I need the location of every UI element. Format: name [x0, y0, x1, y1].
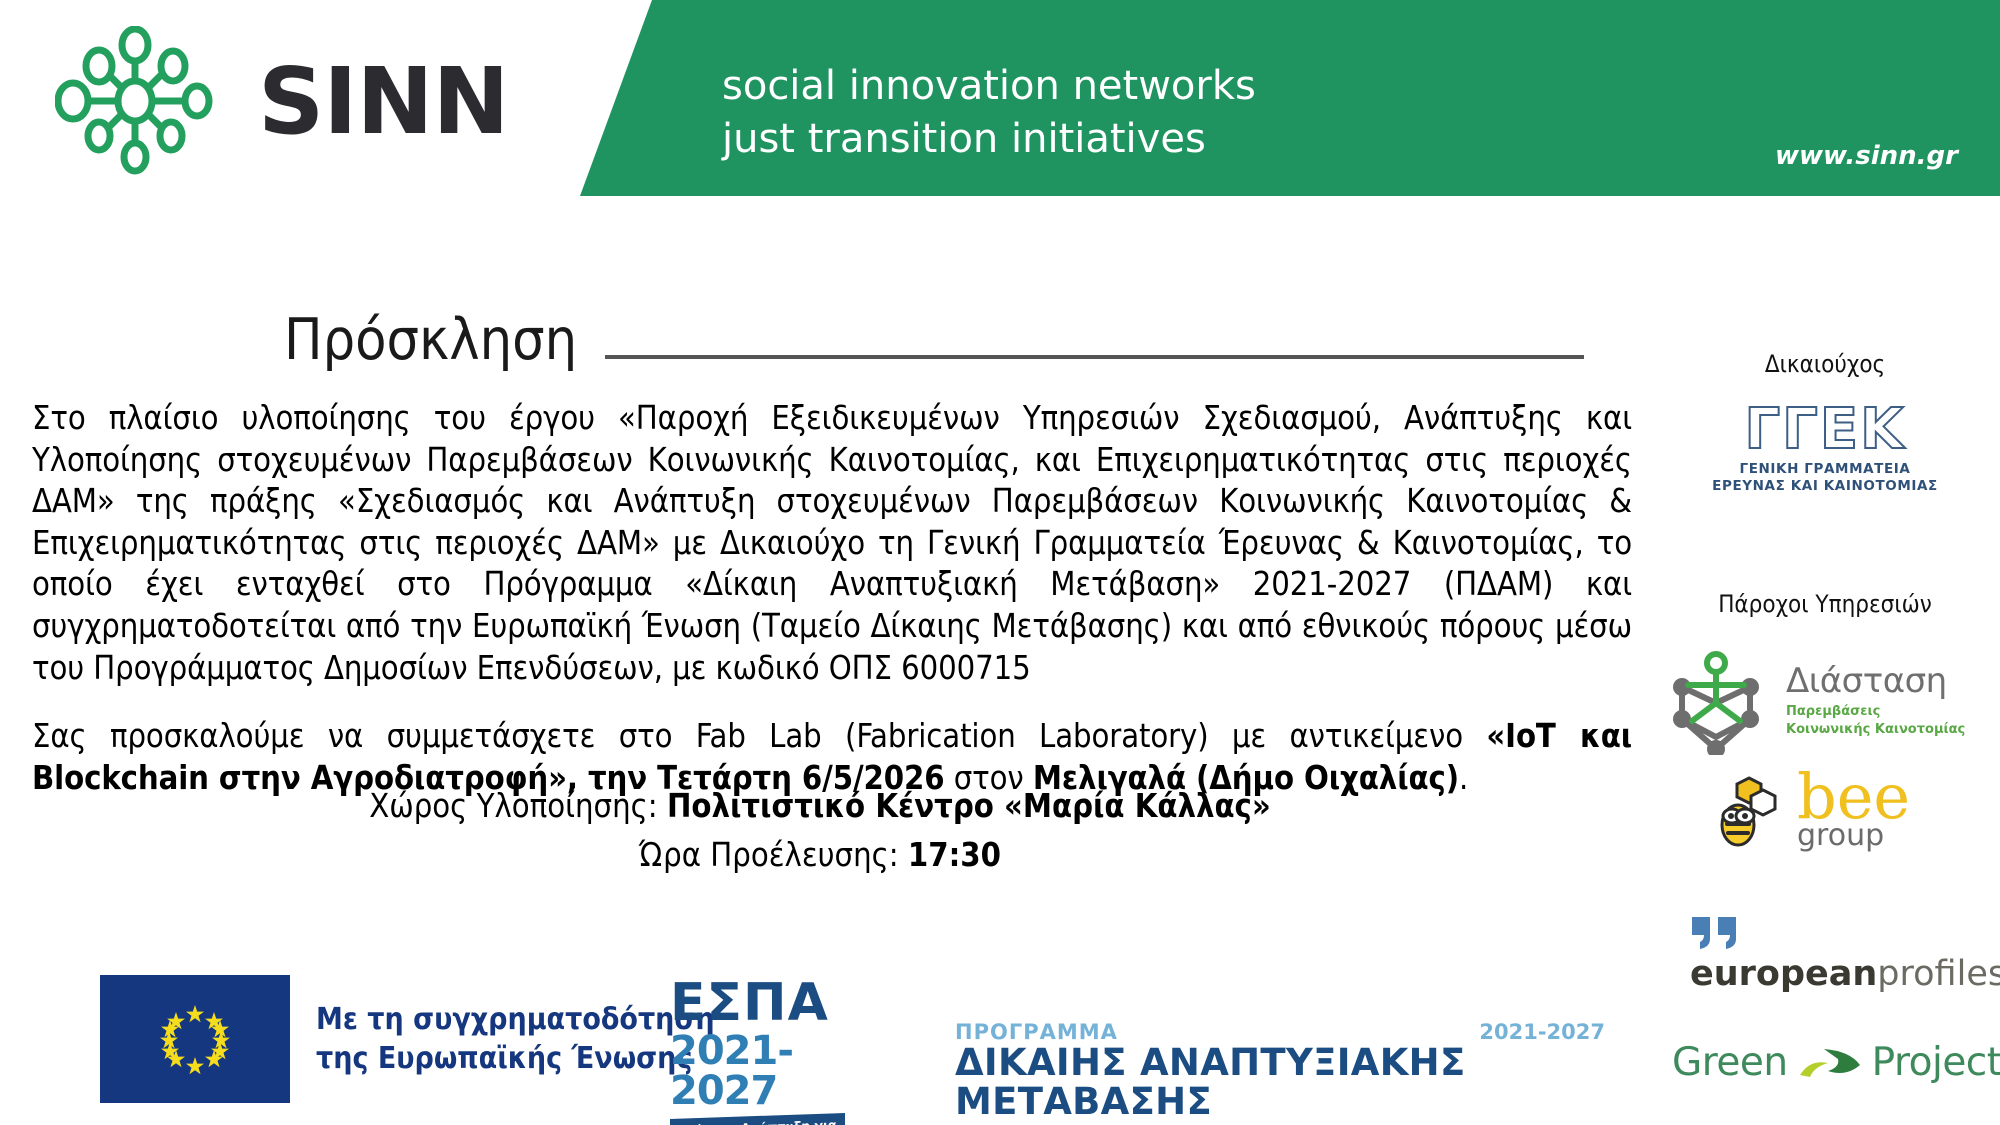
european-profiles-wordmark: europeanprofilesS.A. [1690, 957, 2000, 992]
header-tagline: social innovation networks just transiti… [722, 60, 1256, 166]
ggek-fullname-line1: ΓΕΝΙΚΗ ΓΡΑΜΜΑΤΕΙΑ [1712, 461, 1938, 478]
sinn-network-logo-icon [55, 26, 215, 176]
european-profiles-logo: europeanprofilesS.A. [1690, 915, 2000, 992]
website-url[interactable]: www.sinn.gr [1775, 141, 1958, 171]
bee-group-text: bee group [1797, 771, 1910, 853]
diastasi-network-icon [1660, 645, 1772, 755]
espa-tagline: Βιώσιμη Ανάπτυξη για Όλους [670, 1113, 845, 1125]
bee-word: bee [1797, 771, 1910, 824]
eu-flag-icon [100, 975, 290, 1103]
diastasi-tagline-line1: Παρεμβάσεις [1786, 703, 1965, 721]
event-logistics: Χώρος Υλοποίησης: Πολιτιστικό Κέντρο «Μα… [0, 782, 1640, 880]
invitation-poster: SINN social innovation networks just tra… [0, 0, 2000, 1125]
green-leaf-icon [1794, 1041, 1866, 1085]
eu-text-line1: Με τη συγχρηματοδότηση [316, 1000, 715, 1039]
providers-section: Πάροχοι Υπηρεσιών [1650, 590, 2000, 618]
invitation-title-row: Πρόσκληση [284, 312, 1584, 369]
diastasi-logo: Διάσταση Παρεμβάσεις Κοινωνικής Καινοτομ… [1660, 645, 2000, 755]
pdam-programme-logo: ΠΡΟΓΡΑΜΜΑ 2021-2027 ΔΙΚΑΙΗΣ ΑΝΑΠΤΥΞΙΑΚΗΣ… [955, 1020, 1605, 1122]
bee-icon [1705, 770, 1789, 854]
eu-cofunding-text: Με τη συγχρηματοδότηση της Ευρωπαϊκής Έν… [316, 1000, 715, 1078]
pdam-programme-name: ΔΙΚΑΙΗΣ ΑΝΑΠΤΥΞΙΑΚΗΣ ΜΕΤΑΒΑΣΗΣ [955, 1044, 1605, 1122]
ep-light-part: profiles [1877, 954, 2000, 994]
sinn-wordmark: SINN [258, 48, 508, 155]
ggek-fullname: ΓΕΝΙΚΗ ΓΡΑΜΜΑΤΕΙΑ ΕΡΕΥΝΑΣ ΚΑΙ ΚΑΙΝΟΤΟΜΙΑ… [1712, 461, 1938, 495]
espa-word: ΕΣΠΑ [670, 980, 845, 1027]
title-divider [605, 355, 1584, 359]
eu-text-line2: της Ευρωπαϊκής Ένωσης [316, 1039, 715, 1078]
providers-label: Πάροχοι Υπηρεσιών [1650, 590, 2000, 618]
time-label: Ώρα Προέλευσης: [639, 836, 908, 874]
invitation-body: Στο πλαίσιο υλοποίησης του έργου «Παροχή… [32, 398, 1632, 799]
quote-mark-icon [1690, 915, 1742, 949]
paragraph-project-context: Στο πλαίσιο υλοποίησης του έργου «Παροχή… [32, 398, 1632, 689]
beneficiary-label: Δικαιούχος [1650, 350, 2000, 378]
diastasi-tagline: Παρεμβάσεις Κοινωνικής Καινοτομίας [1786, 703, 1965, 738]
time-line: Ώρα Προέλευσης: 17:30 [0, 831, 1640, 880]
ggek-fullname-line2: ΕΡΕΥΝΑΣ ΚΑΙ ΚΑΙΝΟΤΟΜΙΑΣ [1712, 478, 1938, 495]
diastasi-tagline-line2: Κοινωνικής Καινοτομίας [1786, 721, 1965, 739]
eu-cofunding-logo: Με τη συγχρηματοδότηση της Ευρωπαϊκής Έν… [100, 975, 715, 1103]
beneficiary-section: Δικαιούχος ΓΓΕΚ ΓΕΝΙΚΗ ΓΡΑΜΜΑΤΕΙΑ ΕΡΕΥΝΑ… [1650, 350, 2000, 495]
page-title: Πρόσκληση [284, 312, 577, 369]
venue-line: Χώρος Υλοποίησης: Πολιτιστικό Κέντρο «Μα… [0, 782, 1640, 831]
diastasi-text: Διάσταση Παρεμβάσεις Κοινωνικής Καινοτομ… [1786, 661, 1965, 738]
page-header: SINN social innovation networks just tra… [0, 0, 2000, 196]
espa-years: 2021-2027 [670, 1031, 845, 1111]
ep-bold-part: european [1690, 954, 1877, 994]
ggek-logo: ΓΓΕΚ ΓΕΝΙΚΗ ΓΡΑΜΜΑΤΕΙΑ ΕΡΕΥΝΑΣ ΚΑΙ ΚΑΙΝΟ… [1650, 402, 2000, 495]
espa-logo: ΕΣΠΑ 2021-2027 Βιώσιμη Ανάπτυξη για Όλου… [670, 980, 845, 1125]
diastasi-name: Διάσταση [1786, 661, 1965, 701]
tagline-line-2: just transition initiatives [722, 113, 1256, 166]
bee-group-logo: bee group [1705, 770, 1910, 854]
ggek-acronym: ΓΓΕΚ [1744, 402, 1905, 458]
pdam-years: 2021-2027 [1479, 1020, 1605, 1044]
green-projects-logo: Green Projects [1672, 1040, 2000, 1085]
venue-value: Πολιτιστικό Κέντρο «Μαρία Κάλλας» [667, 787, 1271, 825]
projects-word: Projects [1872, 1040, 2000, 1085]
green-word: Green [1672, 1040, 1788, 1085]
tagline-line-1: social innovation networks [722, 60, 1256, 113]
venue-label: Χώρος Υλοποίησης: [369, 787, 667, 825]
p2-part1: Σας προσκαλούμε να συμμετάσχετε στο Fab … [32, 717, 1486, 755]
time-value: 17:30 [908, 836, 1001, 874]
